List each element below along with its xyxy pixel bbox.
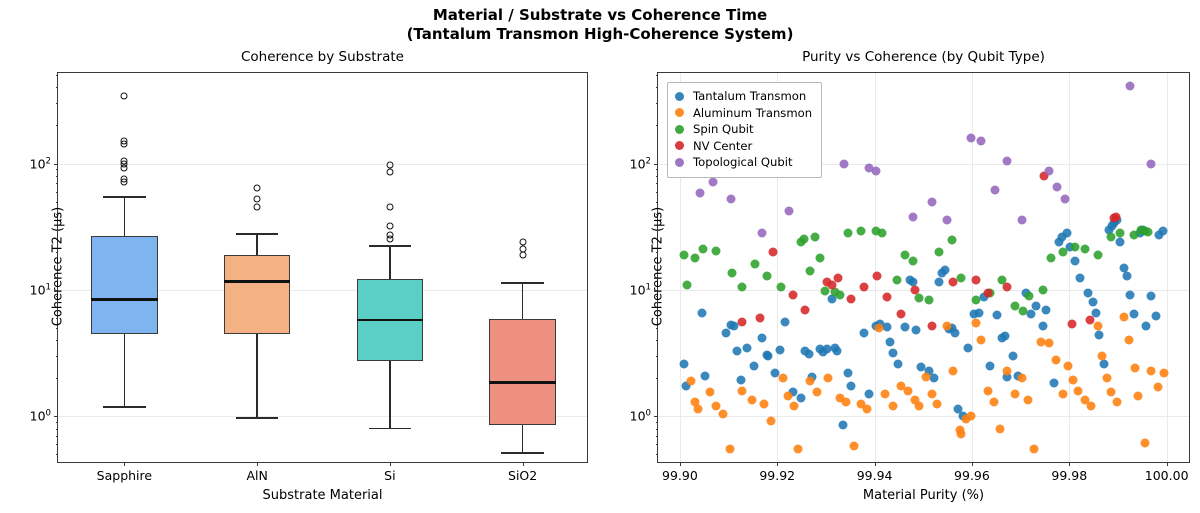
scatter-point [1062, 229, 1071, 238]
outlier-point [386, 235, 393, 242]
scatter-y-tick [654, 416, 658, 417]
boxplot-x-tick-label: SiO2 [508, 468, 537, 483]
scatter-y-minor-tick [656, 318, 659, 319]
scatter-point [874, 324, 883, 333]
scatter-point [790, 402, 799, 411]
boxplot-x-tick [523, 462, 524, 466]
scatter-point [1019, 307, 1028, 316]
scatter-point [1093, 250, 1102, 259]
scatter-point [1147, 159, 1156, 168]
scatter-point [859, 328, 868, 337]
outlier-point [254, 196, 261, 203]
scatter-point [1122, 271, 1131, 280]
scatter-point [706, 388, 715, 397]
outlier-point [121, 141, 128, 148]
scatter-x-tick-label: 99.90 [662, 468, 698, 483]
scatter-point [986, 362, 995, 371]
boxplot-y-minor-tick [56, 176, 59, 177]
scatter-point [886, 337, 895, 346]
scatter-point [1083, 289, 1092, 298]
scatter-point [1106, 233, 1115, 242]
scatter-point [957, 273, 966, 282]
scatter-y-minor-tick [656, 169, 659, 170]
scatter-point [1038, 321, 1047, 330]
scatter-point [1147, 366, 1156, 375]
legend-item-nv-center[interactable]: NV Center [675, 138, 812, 155]
boxplot-y-tick-label: 101 [30, 282, 51, 297]
boxplot-y-minor-tick [56, 296, 59, 297]
boxplot-x-tick [257, 462, 258, 466]
whisker-cap [369, 245, 411, 246]
scatter-y-minor-tick [656, 356, 659, 357]
scatter-point [738, 317, 747, 326]
scatter-point [889, 348, 898, 357]
scatter-x-tick [972, 462, 973, 466]
scatter-point [1129, 310, 1138, 319]
legend-marker-icon [675, 108, 684, 117]
scatter-point [840, 159, 849, 168]
boxplot-gridline [58, 164, 587, 165]
scatter-point [942, 321, 951, 330]
whisker-lower [124, 334, 125, 407]
scatter-point [928, 197, 937, 206]
scatter-point [1038, 285, 1047, 294]
scatter-point [843, 229, 852, 238]
scatter-point [1067, 319, 1076, 328]
scatter-point [975, 308, 984, 317]
whisker-lower [389, 361, 390, 428]
scatter-point [1111, 212, 1120, 221]
scatter-point [1071, 256, 1080, 265]
scatter-point [800, 234, 809, 243]
scatter-point [900, 322, 909, 331]
scatter-point [1126, 82, 1135, 91]
scatter-point [983, 386, 992, 395]
scatter-point [911, 326, 920, 335]
scatter-point [1053, 183, 1062, 192]
scatter-point [775, 345, 784, 354]
scatter-gridline-v [1167, 73, 1168, 462]
scatter-point [718, 409, 727, 418]
scatter-point [824, 374, 833, 383]
scatter-point [847, 381, 856, 390]
scatter-point [749, 362, 758, 371]
scatter-point [1059, 247, 1068, 256]
scatter-x-tick [777, 462, 778, 466]
whisker-lower [522, 425, 523, 453]
scatter-y-minor-tick [656, 75, 659, 76]
scatter-point [989, 397, 998, 406]
outlier-point [386, 204, 393, 211]
median-line-si [357, 319, 423, 321]
boxplot-y-minor-tick [56, 444, 59, 445]
median-line-aln [224, 280, 290, 282]
scatter-point [1003, 366, 1012, 375]
scatter-x-tick-label: 100.00 [1145, 468, 1189, 483]
scatter-y-minor-tick [656, 429, 659, 430]
scatter-point [964, 343, 973, 352]
scatter-y-minor-tick [656, 87, 659, 88]
scatter-y-minor-tick [656, 103, 659, 104]
scatter-point [736, 375, 745, 384]
outlier-point [519, 251, 526, 258]
scatter-point [976, 137, 985, 146]
scatter-y-minor-tick [656, 444, 659, 445]
scatter-point [816, 253, 825, 262]
scatter-point [1100, 359, 1109, 368]
scatter-point [696, 189, 705, 198]
scatter-y-minor-tick [656, 436, 659, 437]
scatter-point [1061, 195, 1070, 204]
whisker-upper [389, 245, 390, 279]
scatter-point [835, 290, 844, 299]
whisker-upper [124, 196, 125, 236]
scatter-point [697, 308, 706, 317]
boxplot-y-minor-tick [56, 310, 59, 311]
scatter-point [889, 402, 898, 411]
scatter-point [976, 336, 985, 345]
scatter-point [709, 177, 718, 186]
scatter-gridline-v [972, 73, 973, 462]
boxplot-y-minor-tick [56, 75, 59, 76]
scatter-point [1113, 397, 1122, 406]
whisker-cap [501, 282, 543, 283]
scatter-point [928, 390, 937, 399]
scatter-point [971, 275, 980, 284]
boxplot-x-tick-label: AlN [246, 468, 267, 483]
boxplot-y-minor-tick [56, 252, 59, 253]
scatter-point [1098, 352, 1107, 361]
scatter-y-minor-tick [656, 252, 659, 253]
scatter-point [757, 333, 766, 342]
scatter-point [683, 280, 692, 289]
boxplot-y-minor-tick [56, 318, 59, 319]
scatter-point [1158, 227, 1167, 236]
legend-item-spin-qubit[interactable]: Spin Qubit [675, 121, 812, 138]
outlier-point [121, 93, 128, 100]
scatter-y-tick-label: 100 [630, 409, 651, 424]
legend-item-label: NV Center [693, 139, 752, 153]
scatter-point [757, 229, 766, 238]
scatter-point [806, 377, 815, 386]
scatter-point [971, 318, 980, 327]
scatter-x-tick [875, 462, 876, 466]
scatter-point [881, 390, 890, 399]
scatter-point [777, 283, 786, 292]
scatter-point [1001, 331, 1010, 340]
scatter-point [882, 323, 891, 332]
scatter-point [950, 329, 959, 338]
boxplot-y-minor-tick [56, 429, 59, 430]
scatter-point [847, 294, 856, 303]
whisker-cap [236, 233, 278, 234]
boxplot-x-tick-label: Si [384, 468, 395, 483]
boxplot-y-tick [54, 416, 58, 417]
scatter-point [762, 271, 771, 280]
boxplot-y-minor-tick [56, 202, 59, 203]
whisker-cap [369, 428, 411, 429]
outlier-point [386, 223, 393, 230]
boxplot-y-minor-tick [56, 87, 59, 88]
boxplot-y-minor-tick [56, 302, 59, 303]
scatter-point [801, 305, 810, 314]
scatter-point [957, 430, 966, 439]
boxplot-y-minor-tick [56, 103, 59, 104]
scatter-point [751, 260, 760, 269]
scatter-point [804, 350, 813, 359]
scatter-point [864, 390, 873, 399]
scatter-point [908, 256, 917, 265]
scatter-point [932, 400, 941, 409]
scatter-y-tick-label: 101 [630, 282, 651, 297]
scatter-point [769, 247, 778, 256]
scatter-y-minor-tick [656, 422, 659, 423]
scatter-point [806, 267, 815, 276]
scatter-y-minor-tick [656, 183, 659, 184]
scatter-point [1093, 321, 1102, 330]
whisker-cap [103, 406, 145, 407]
scatter-y-minor-tick [656, 378, 659, 379]
scatter-point [788, 290, 797, 299]
scatter-point [1087, 402, 1096, 411]
legend-item-topological-qubit[interactable]: Topological Qubit [675, 154, 812, 171]
scatter-point [756, 313, 765, 322]
boxplot-x-tick-label: Sapphire [97, 468, 152, 483]
scatter-point [832, 346, 841, 355]
scatter-point [996, 424, 1005, 433]
scatter-y-minor-tick [656, 192, 659, 193]
scatter-point [1017, 215, 1026, 224]
scatter-point [1049, 378, 1058, 387]
scatter-y-tick [654, 164, 658, 165]
boxplot-y-tick [54, 290, 58, 291]
scatter-point [796, 393, 805, 402]
box-sio2 [489, 319, 555, 425]
scatter-y-minor-tick [656, 125, 659, 126]
scatter-point [1131, 364, 1140, 373]
scatter-point [966, 412, 975, 421]
median-line-sapphire [91, 298, 157, 300]
boxplot-y-minor-tick [56, 230, 59, 231]
legend-marker-icon [675, 141, 684, 150]
scatter-point [1124, 336, 1133, 345]
scatter-point [785, 207, 794, 216]
scatter-y-minor-tick [656, 302, 659, 303]
scatter-point [1069, 375, 1078, 384]
scatter-point [1076, 273, 1085, 282]
scatter-point [949, 366, 958, 375]
scatter-point [893, 359, 902, 368]
boxplot-x-tick [390, 462, 391, 466]
scatter-point [843, 369, 852, 378]
scatter-point [759, 400, 768, 409]
outlier-point [121, 179, 128, 186]
scatter-point [1071, 242, 1080, 251]
whisker-cap [501, 452, 543, 453]
boxplot-axes: Coherence by Substrate Coherence T2 (µs)… [57, 72, 588, 463]
scatter-point [1032, 302, 1041, 311]
scatter-point [1080, 245, 1089, 254]
scatter-point [1134, 391, 1143, 400]
box-sapphire [91, 236, 157, 333]
scatter-y-minor-tick [656, 176, 659, 177]
scatter-gridline-v [875, 73, 876, 462]
figure-canvas: Material / Substrate vs Coherence Time (… [0, 0, 1200, 513]
scatter-point [1160, 369, 1169, 378]
scatter-point [712, 246, 721, 255]
scatter-point [1085, 315, 1094, 324]
scatter-point [793, 445, 802, 454]
outlier-point [254, 185, 261, 192]
scatter-point [1003, 283, 1012, 292]
scatter-point [915, 294, 924, 303]
legend-marker-icon [675, 92, 684, 101]
scatter-point [834, 273, 843, 282]
scatter-point [1046, 253, 1055, 262]
scatter-point [838, 421, 847, 430]
scatter-point [1147, 291, 1156, 300]
outlier-point [254, 204, 261, 211]
scatter-point [1140, 438, 1149, 447]
scatter-point [929, 374, 938, 383]
median-line-sio2 [489, 381, 555, 383]
scatter-y-minor-tick [656, 296, 659, 297]
outlier-point [519, 238, 526, 245]
scatter-y-minor-tick [656, 214, 659, 215]
legend-item-label: Aluminum Transmon [693, 106, 812, 120]
scatter-point [908, 212, 917, 221]
legend-item-label: Topological Qubit [693, 155, 793, 169]
scatter-point [1095, 331, 1104, 340]
scatter-x-tick-label: 99.96 [954, 468, 990, 483]
boxplot-plot-area [58, 73, 587, 462]
scatter-y-axis-label: Coherence T2 (µs) [651, 204, 666, 328]
whisker-cap [236, 417, 278, 418]
figure-suptitle: Material / Substrate vs Coherence Time (… [0, 6, 1200, 44]
scatter-point [921, 372, 930, 381]
legend-item-label: Tantalum Transmon [693, 89, 806, 103]
scatter-point [780, 317, 789, 326]
scatter-point [679, 359, 688, 368]
scatter-point [1041, 305, 1050, 314]
scatter-point [877, 229, 886, 238]
scatter-point [966, 133, 975, 142]
scatter-point [1144, 228, 1153, 237]
scatter-point [983, 288, 992, 297]
scatter-x-tick-label: 99.92 [759, 468, 795, 483]
boxplot-y-axis-label: Coherence T2 (µs) [51, 204, 66, 328]
scatter-point [903, 386, 912, 395]
scatter-point [947, 235, 956, 244]
scatter-point [1044, 166, 1053, 175]
whisker-upper [522, 282, 523, 319]
scatter-y-minor-tick [656, 328, 659, 329]
scatter-point [993, 311, 1002, 320]
scatter-point [1064, 362, 1073, 371]
scatter-point [892, 275, 901, 284]
scatter-point [1025, 291, 1034, 300]
boxplot-x-axis-label: Substrate Material [58, 488, 587, 503]
scatter-point [747, 395, 756, 404]
scatter-gridline-h [658, 290, 1189, 291]
suptitle-line-2: (Tantalum Transmon High-Coherence System… [0, 25, 1200, 44]
scatter-point [779, 374, 788, 383]
scatter-point [910, 285, 919, 294]
whisker-lower [256, 334, 257, 418]
scatter-x-tick [1167, 462, 1168, 466]
scatter-legend[interactable]: Tantalum TransmonAluminum TransmonSpin Q… [667, 82, 822, 178]
scatter-point [882, 292, 891, 301]
scatter-point [1030, 445, 1039, 454]
legend-item-tantalum-transmon[interactable]: Tantalum Transmon [675, 88, 812, 105]
box-aln [224, 255, 290, 334]
scatter-point [842, 397, 851, 406]
outlier-point [386, 168, 393, 175]
scatter-x-tick [680, 462, 681, 466]
scatter-point [873, 271, 882, 280]
scatter-x-axis-label: Material Purity (%) [658, 488, 1189, 503]
scatter-y-minor-tick [656, 230, 659, 231]
scatter-point [722, 328, 731, 337]
scatter-point [871, 166, 880, 175]
boxplot-y-minor-tick [56, 436, 59, 437]
scatter-point [859, 283, 868, 292]
scatter-title: Purity vs Coherence (by Qubit Type) [658, 49, 1189, 65]
boxplot-y-minor-tick [56, 169, 59, 170]
scatter-point [1009, 352, 1018, 361]
boxplot-y-minor-tick [56, 356, 59, 357]
scatter-point [971, 296, 980, 305]
scatter-point [934, 247, 943, 256]
scatter-point [1088, 298, 1097, 307]
suptitle-line-1: Material / Substrate vs Coherence Time [0, 6, 1200, 25]
scatter-point [699, 245, 708, 254]
scatter-point [701, 371, 710, 380]
scatter-point [743, 343, 752, 352]
scatter-point [1074, 386, 1083, 395]
scatter-point [764, 352, 773, 361]
scatter-point [1116, 229, 1125, 238]
boxplot-title: Coherence by Substrate [58, 49, 587, 65]
legend-marker-icon [675, 158, 684, 167]
boxplot-y-tick-label: 100 [30, 409, 51, 424]
scatter-y-minor-tick [656, 310, 659, 311]
scatter-point [738, 386, 747, 395]
scatter-point [783, 391, 792, 400]
scatter-point [1017, 374, 1026, 383]
scatter-point [728, 269, 737, 278]
boxplot-y-minor-tick [56, 328, 59, 329]
legend-item-aluminum-transmon[interactable]: Aluminum Transmon [675, 105, 812, 122]
boxplot-y-minor-tick [56, 214, 59, 215]
boxplot-y-minor-tick [56, 183, 59, 184]
scatter-point [691, 253, 700, 262]
scatter-point [941, 265, 950, 274]
boxplot-y-minor-tick [56, 340, 59, 341]
outlier-point [121, 165, 128, 172]
boxplot-y-minor-tick [56, 125, 59, 126]
scatter-point [725, 445, 734, 454]
scatter-point [934, 278, 943, 287]
scatter-point [679, 250, 688, 259]
scatter-point [767, 416, 776, 425]
scatter-point [686, 377, 695, 386]
scatter-point [1010, 390, 1019, 399]
scatter-y-minor-tick [656, 454, 659, 455]
scatter-x-tick-label: 99.94 [857, 468, 893, 483]
scatter-point [1051, 355, 1060, 364]
boxplot-y-tick-label: 102 [30, 156, 51, 171]
